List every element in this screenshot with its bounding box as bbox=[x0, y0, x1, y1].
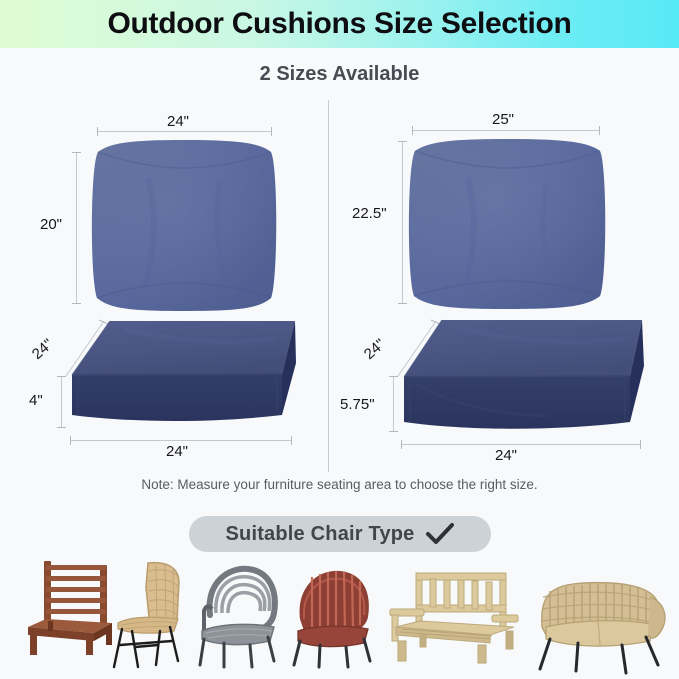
infographic-page: Outdoor Cushions Size Selection 2 Sizes … bbox=[0, 0, 679, 679]
cushion-thickness-dimension-line bbox=[61, 376, 62, 428]
pillow-height-label: 20" bbox=[40, 216, 62, 233]
cushion-depth-label: 24" bbox=[361, 336, 389, 363]
cushion-width-cap-left bbox=[70, 436, 71, 445]
measurement-note: Note: Measure your furniture seating are… bbox=[0, 477, 679, 492]
seat-cushion-left bbox=[64, 319, 298, 435]
cushion-thickness-label: 4" bbox=[29, 392, 43, 409]
section-divider bbox=[328, 100, 329, 472]
furniture-item-rust-rope-chair bbox=[282, 561, 378, 669]
furniture-row bbox=[0, 548, 679, 679]
back-pillow-right bbox=[404, 137, 610, 311]
back-pillow-left bbox=[88, 138, 280, 313]
furniture-item-wood-slat-chair bbox=[20, 557, 116, 657]
pillow-height-dimension-line bbox=[76, 152, 77, 304]
cushion-width-label: 24" bbox=[495, 447, 517, 464]
pillow-height-dimension-line bbox=[402, 141, 403, 304]
furniture-item-rattan-side-chair bbox=[108, 557, 192, 671]
cushion-thickness-label: 5.75" bbox=[340, 396, 375, 413]
cushion-width-cap-left bbox=[401, 440, 402, 449]
pillow-width-cap-left bbox=[97, 127, 98, 136]
pillow-height-cap-bottom bbox=[72, 303, 81, 304]
cushion-width-cap-right bbox=[291, 436, 292, 445]
cushion-thickness-dimension-line bbox=[393, 376, 394, 432]
pillow-width-label: 25" bbox=[492, 111, 514, 128]
cushion-width-dimension-line bbox=[70, 440, 292, 441]
cushion-width-cap-right bbox=[640, 440, 641, 449]
furniture-item-wood-bench bbox=[380, 565, 520, 665]
check-icon bbox=[425, 522, 455, 546]
pillow-width-label: 24" bbox=[167, 113, 189, 130]
page-title: Outdoor Cushions Size Selection bbox=[0, 2, 679, 46]
subtitle: 2 Sizes Available bbox=[0, 63, 679, 86]
suitable-chair-type-banner: Suitable Chair Type bbox=[189, 516, 491, 552]
pillow-width-cap-right bbox=[271, 127, 272, 136]
pillow-width-dimension-line bbox=[97, 131, 272, 132]
cushion-width-dimension-line bbox=[401, 444, 641, 445]
furniture-item-rattan-loveseat bbox=[524, 569, 672, 675]
furniture-item-grey-rope-chair bbox=[190, 561, 286, 669]
suitable-chair-type-label: Suitable Chair Type bbox=[225, 523, 414, 546]
cushion-depth-label: 24" bbox=[29, 336, 57, 363]
pillow-width-dimension-line bbox=[412, 130, 600, 131]
seat-cushion-right bbox=[396, 318, 648, 440]
pillow-height-label: 22.5" bbox=[352, 205, 387, 222]
pillow-width-cap-left bbox=[412, 126, 413, 135]
pillow-width-cap-right bbox=[599, 126, 600, 135]
pillow-height-cap-top bbox=[72, 152, 81, 153]
cushion-width-label: 24" bbox=[166, 443, 188, 460]
